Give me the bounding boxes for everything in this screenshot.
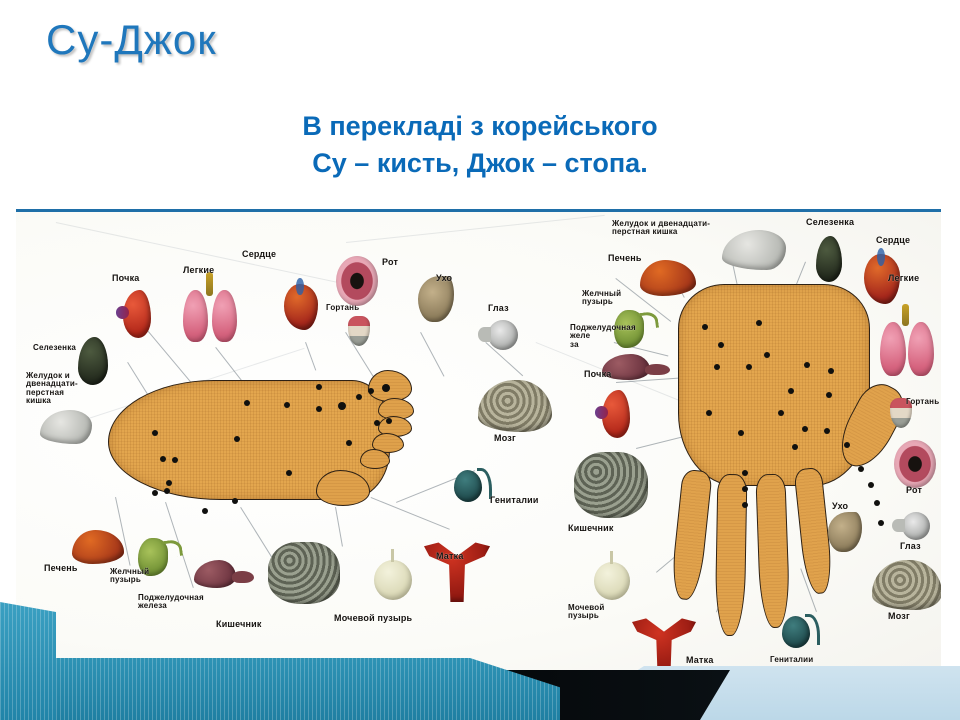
label-heart-hand: Сердце: [876, 236, 910, 245]
foot-point: [160, 456, 166, 462]
label-genitals-foot: Гениталии: [490, 496, 539, 505]
organ-spleen-hand: [816, 236, 842, 282]
foot-point: [166, 480, 172, 486]
organ-intestines-hand: [574, 452, 648, 518]
label-genitals-hand: Гениталии: [770, 656, 813, 664]
subtitle-block: В перекладі з корейського Су – кисть, Дж…: [0, 108, 960, 183]
hand-point: [778, 410, 784, 416]
organ-intestines-foot: [268, 542, 340, 604]
label-gallbladder-foot: Желчный пузырь: [110, 568, 149, 585]
foot-point: [152, 430, 158, 436]
foot-point: [164, 488, 170, 494]
hand-point: [746, 364, 752, 370]
organ-lung-left-foot: [183, 290, 208, 342]
organ-mouth-hand: [894, 440, 936, 488]
hand-point: [738, 430, 744, 436]
organ-kidney-hand: [602, 390, 630, 438]
hand-point: [706, 410, 712, 416]
hand-point: [844, 442, 850, 448]
organ-mouth-foot: [336, 256, 378, 306]
foot-toe-5: [360, 449, 390, 469]
hand-point: [764, 352, 770, 358]
label-mouth-foot: Рот: [382, 258, 398, 267]
label-liver-hand: Печень: [608, 254, 642, 263]
organ-lung-left-hand: [880, 322, 906, 376]
organ-genitals-foot: [454, 470, 482, 502]
hand-point: [802, 426, 808, 432]
foot-point: [232, 498, 238, 504]
label-intestines-foot: Кишечник: [216, 620, 262, 629]
foot-point: [284, 402, 290, 408]
organ-trachea-hand: [902, 304, 909, 326]
page-title: Су-Джок: [46, 16, 217, 64]
hand-point: [702, 324, 708, 330]
subtitle-line-1: В перекладі з корейського: [0, 108, 960, 145]
label-eye-hand: Глаз: [900, 542, 921, 551]
foot-point: [356, 394, 362, 400]
label-brain-hand: Мозг: [888, 612, 910, 621]
hand-point: [878, 520, 884, 526]
label-brain-foot: Мозг: [494, 434, 516, 443]
hand-palm-diagram: [678, 284, 870, 486]
organ-trachea-foot: [206, 272, 213, 296]
label-spleen-foot: Селезенка: [33, 344, 76, 352]
hand-point: [858, 466, 864, 472]
hand-point: [742, 486, 748, 492]
foot-point: [338, 402, 346, 410]
hand-point: [714, 364, 720, 370]
anatomy-chart-image: Селезенка Желудок и двенадцати- перстная…: [16, 209, 941, 692]
organ-lung-right-foot: [212, 290, 237, 342]
label-gallbladder-hand: Желчный пузырь: [582, 290, 621, 307]
label-uterus-hand: Матка: [686, 656, 714, 665]
label-pancreas-foot: Поджелудочная железа: [138, 594, 204, 611]
hand-point: [718, 342, 724, 348]
hand-point: [742, 502, 748, 508]
organ-genitals-hand: [782, 616, 810, 648]
label-larynx-hand: Гортань: [906, 398, 939, 406]
foot-point: [244, 400, 250, 406]
foot-point: [368, 388, 374, 394]
foot-point: [346, 440, 352, 446]
label-kidney-hand: Почка: [584, 370, 611, 379]
foot-point: [286, 470, 292, 476]
foot-point: [382, 384, 390, 392]
label-mouth-hand: Рот: [906, 486, 922, 495]
label-intestines-hand: Кишечник: [568, 524, 614, 533]
label-liver-foot: Печень: [44, 564, 78, 573]
organ-lung-right-hand: [908, 322, 934, 376]
hand-point: [826, 392, 832, 398]
hand-point: [792, 444, 798, 450]
hand-point: [756, 320, 762, 326]
label-ear-hand: Ухо: [832, 502, 848, 511]
hand-point: [824, 428, 830, 434]
label-eye-foot: Глаз: [488, 304, 509, 313]
foot-point: [202, 508, 208, 514]
organ-bladder-foot: [374, 560, 412, 600]
organ-bladder-hand: [594, 562, 630, 600]
organ-heart-foot: [284, 284, 318, 330]
organ-kidney-foot: [123, 290, 151, 338]
hand-point: [804, 362, 810, 368]
hand-point: [828, 368, 834, 374]
subtitle-line-2: Су – кисть, Джок – стопа.: [0, 145, 960, 182]
label-stomach-hand: Желудок и двенадцати- перстная кишка: [612, 220, 710, 237]
label-larynx-foot: Гортань: [326, 304, 359, 312]
organ-eye-foot: [488, 320, 518, 350]
foot-point: [374, 420, 380, 426]
label-bladder-foot: Мочевой пузырь: [334, 614, 412, 623]
hand-point: [742, 470, 748, 476]
foot-point: [152, 490, 158, 496]
label-stomach-foot: Желудок и двенадцати- перстная кишка: [26, 372, 78, 406]
label-kidney-foot: Почка: [112, 274, 139, 283]
label-uterus-foot: Матка: [436, 552, 464, 561]
organ-eye-hand: [902, 512, 930, 540]
label-bladder-hand: Мочевой пузырь: [568, 604, 604, 621]
label-lungs-hand: Легкие: [888, 274, 919, 283]
foot-point: [316, 384, 322, 390]
label-pancreas-hand: Поджелудочная желе за: [570, 324, 636, 349]
label-spleen-hand: Селезенка: [806, 218, 854, 227]
foot-point: [234, 436, 240, 442]
hand-point: [868, 482, 874, 488]
foot-point: [316, 406, 322, 412]
label-heart-foot: Сердце: [242, 250, 276, 259]
label-lungs-foot: Легкие: [183, 266, 214, 275]
hand-point: [788, 388, 794, 394]
foot-point: [172, 457, 178, 463]
organ-spleen-foot: [78, 337, 108, 385]
hand-point: [874, 500, 880, 506]
foot-point: [386, 418, 392, 424]
label-ear-foot: Ухо: [436, 274, 452, 283]
